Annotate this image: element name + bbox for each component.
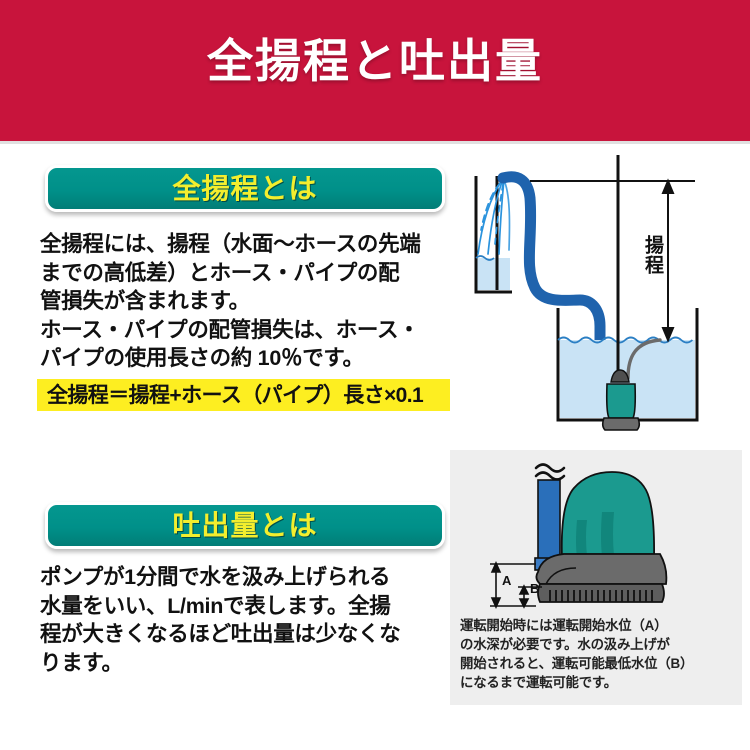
page-title: 全揚程と吐出量 — [0, 38, 750, 84]
section-banner-label: 吐出量とは — [172, 512, 317, 540]
formula-text: 全揚程＝揚程+ホース（パイプ）長さ×0.1 — [47, 385, 423, 406]
section-banner-label: 全揚程とは — [172, 175, 317, 203]
water-spray — [478, 179, 509, 254]
header-underline — [0, 141, 750, 144]
section-banner-total-head: 全揚程とは — [45, 165, 445, 212]
pump-hose — [538, 480, 560, 560]
diagram-total-head: 揚程 — [450, 150, 750, 440]
dimension-label-b: B — [530, 582, 539, 595]
pump-diagram-caption: 運転開始時には運転開始水位（A） の水深が必要です。水の汲み上げが 開始されると… — [460, 616, 734, 692]
head-dimension-label: 揚程 — [643, 235, 662, 275]
infographic-page: 全揚程と吐出量 全揚程とは 全揚程には、揚程（水面〜ホースの先端 までの高低差）… — [0, 0, 750, 750]
head-diagram-svg — [450, 150, 750, 440]
header-band: 全揚程と吐出量 — [0, 0, 750, 141]
section-body-discharge: ポンプが1分間で水を汲み上げられる 水量をいい、L/minで表します。全揚 程が… — [40, 563, 450, 677]
panel-pump-water-level: A B 運転開始時には運転開始水位（A） の水深が必要です。水の汲み上げが 開始… — [450, 450, 742, 705]
section-banner-discharge: 吐出量とは — [45, 502, 445, 549]
pump-diagram-svg — [450, 450, 742, 612]
dimension-label-a: A — [502, 574, 511, 587]
hose-break-symbol — [536, 465, 564, 480]
pump-figure: A B — [450, 450, 742, 610]
pump-base — [538, 584, 664, 602]
section-body-total-head: 全揚程には、揚程（水面〜ホースの先端 までの高低差）とホース・パイプの配 管損失… — [40, 230, 450, 373]
head-dimension-arrow — [663, 181, 673, 340]
